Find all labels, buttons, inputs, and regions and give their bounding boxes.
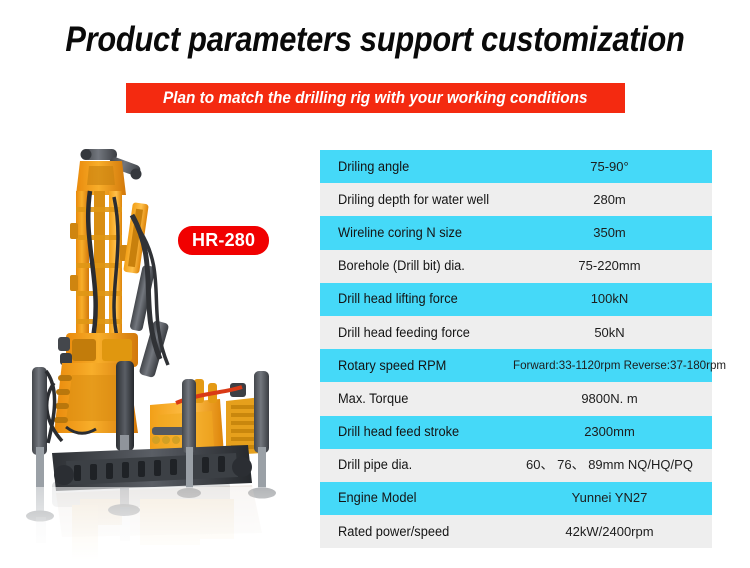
table-row: Drill pipe dia. 60、 76、 89mm NQ/HQ/PQ bbox=[320, 449, 712, 482]
page-title: Product parameters support customization bbox=[45, 18, 705, 62]
spec-label: Driling depth for water well bbox=[338, 192, 504, 208]
spec-value: 2300mm bbox=[513, 424, 706, 440]
product-spec-page: Product parameters support customization… bbox=[0, 0, 750, 568]
spec-label: Drill pipe dia. bbox=[338, 457, 504, 473]
subtitle-banner: Plan to match the drilling rig with your… bbox=[126, 83, 625, 113]
table-row: Drill head lifting force 100kN bbox=[320, 283, 712, 316]
spec-label: Driling angle bbox=[338, 159, 504, 175]
crawler-track bbox=[52, 445, 252, 491]
spec-value: 350m bbox=[513, 225, 706, 241]
spec-label: Drill head feed stroke bbox=[338, 424, 504, 440]
spec-value: 100kN bbox=[513, 291, 706, 307]
spec-value: 42kW/2400rpm bbox=[513, 524, 706, 540]
table-row: Borehole (Drill bit) dia. 75-220mm bbox=[320, 250, 712, 283]
table-row: Driling angle 75-90° bbox=[320, 150, 712, 183]
specification-table: Driling angle 75-90° Driling depth for w… bbox=[320, 150, 712, 548]
spec-label: Rotary speed RPM bbox=[338, 358, 504, 374]
spec-value: 50kN bbox=[513, 325, 706, 341]
spec-label: Engine Model bbox=[338, 490, 504, 506]
outrigger-rear-left bbox=[110, 371, 124, 451]
spec-label: Wireline coring N size bbox=[338, 225, 504, 241]
spec-value: 75-220mm bbox=[513, 258, 706, 274]
spec-value: Forward:33-1120rpm Reverse:37-180rpm bbox=[513, 358, 730, 374]
table-row: Driling depth for water well 280m bbox=[320, 183, 712, 216]
spec-value: Yunnei YN27 bbox=[513, 490, 706, 506]
spec-label: Borehole (Drill bit) dia. bbox=[338, 258, 504, 274]
spec-value: 75-90° bbox=[513, 159, 706, 175]
product-image bbox=[10, 135, 310, 560]
table-row: Drill head feed stroke 2300mm bbox=[320, 416, 712, 449]
spec-label: Drill head lifting force bbox=[338, 291, 504, 307]
spec-label: Rated power/speed bbox=[338, 524, 504, 540]
product-model-badge: HR-280 bbox=[178, 226, 269, 255]
table-row: Rotary speed RPM Forward:33-1120rpm Reve… bbox=[320, 349, 712, 382]
table-row: Rated power/speed 42kW/2400rpm bbox=[320, 515, 712, 548]
spec-value: 9800N. m bbox=[513, 391, 706, 407]
table-row: Drill head feeding force 50kN bbox=[320, 316, 712, 349]
table-row: Max. Torque 9800N. m bbox=[320, 382, 712, 415]
spec-value: 60、 76、 89mm NQ/HQ/PQ bbox=[513, 457, 706, 473]
spec-label: Max. Torque bbox=[338, 391, 504, 407]
table-row: Wireline coring N size 350m bbox=[320, 216, 712, 249]
spec-label: Drill head feeding force bbox=[338, 325, 504, 341]
spec-value: 280m bbox=[513, 192, 706, 208]
drilling-rig-illustration bbox=[10, 135, 310, 560]
subtitle-banner-text: Plan to match the drilling rig with your… bbox=[163, 89, 588, 107]
table-row: Engine Model Yunnei YN27 bbox=[320, 482, 712, 515]
